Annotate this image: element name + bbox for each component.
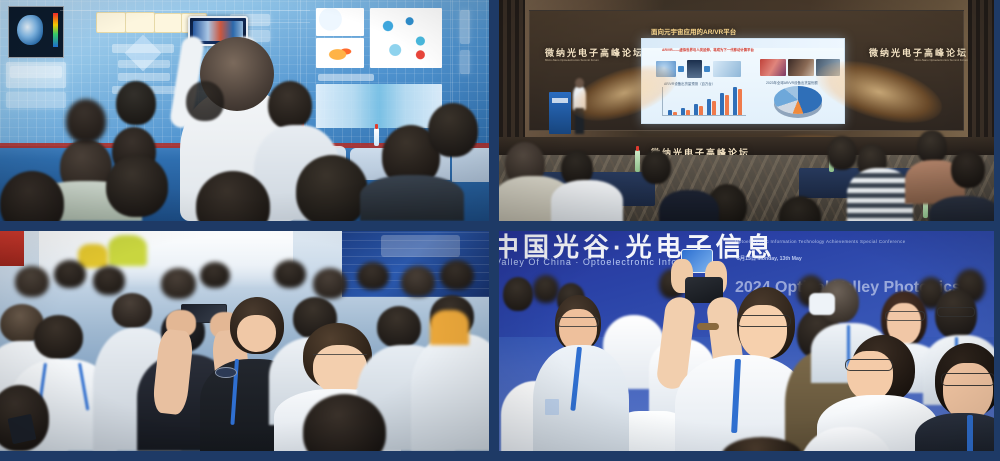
audience-head: [93, 266, 125, 295]
audience-body: [411, 334, 489, 451]
bar-vr: [673, 112, 677, 115]
flow-label-bar: [118, 73, 170, 81]
audience-head: [377, 306, 421, 348]
flow-label-bar: [112, 44, 174, 53]
simulation-tile: [316, 8, 364, 36]
lanyard: [967, 415, 973, 451]
screen-panel: [10, 66, 62, 78]
flow-box: [154, 13, 182, 33]
screen-panel: [460, 50, 470, 74]
slide-plus-icon: [704, 66, 710, 72]
audience-head: [917, 130, 947, 164]
slide-photo: [788, 59, 814, 76]
eyeglasses: [885, 311, 925, 321]
wristwatch: [215, 367, 237, 378]
slide-pie-note: 2023年全球AR/VR设备出货量份额: [766, 80, 818, 85]
audience-head: [440, 260, 474, 291]
person-photographer-face: [739, 305, 787, 359]
audience-head: [268, 81, 312, 129]
audience-head: [54, 260, 86, 289]
audience-head: [827, 136, 857, 170]
banner-subtitle-en: Optoelectronic Information Technology Ac…: [735, 239, 906, 244]
audience-head: [357, 262, 389, 291]
audience-head: [66, 99, 106, 143]
bar-ar: [707, 99, 711, 115]
screen-panel: [6, 92, 66, 108]
screen-panel: [460, 10, 470, 44]
slide-icon-compute: [687, 60, 702, 78]
speaker-head: [575, 78, 584, 88]
audience-head: [313, 268, 347, 299]
audience-head: [951, 150, 985, 188]
audience-body: [929, 196, 994, 221]
flow-label-bar: [118, 60, 170, 68]
person-photographer-face: [237, 315, 276, 352]
bar-vr: [738, 89, 742, 115]
chart-axis-x: [662, 115, 746, 116]
audience-head: [641, 150, 671, 184]
flow-connector: [60, 10, 310, 11]
eyeglasses: [313, 354, 367, 362]
simulation-tile: [316, 84, 442, 128]
podium-logo: [552, 98, 568, 103]
bar-ar: [720, 93, 724, 115]
audience-head: [401, 266, 435, 297]
audience-body: [551, 180, 623, 221]
audience-head: [161, 268, 195, 299]
photo-collage: 微纳光电子高峰论坛 Micro-Nano Optoelectronics Sum…: [0, 0, 1000, 461]
audience-head: [533, 275, 559, 303]
audience-head: [15, 266, 49, 297]
stage-curtain: [968, 0, 994, 137]
badge: [545, 399, 559, 415]
bar-vr: [699, 106, 703, 115]
water-bottle: [374, 128, 379, 146]
forum-title-left-en: Micro-Nano Optoelectronics Summit Forum: [545, 58, 599, 62]
audience-body: [847, 168, 913, 221]
eyeglasses: [937, 307, 975, 317]
water-bottle: [635, 150, 640, 172]
audience-head: [106, 155, 168, 217]
bar-vr: [725, 95, 729, 115]
panel-top-right: 微纳光电子高峰论坛 Micro-Nano Optoelectronics Sum…: [497, 0, 1000, 226]
eyeglasses: [845, 359, 893, 371]
red-banner: [0, 231, 24, 266]
banner-date: 5月13日 Monday, 13th May: [737, 255, 802, 262]
forum-title-right-en: Micro-Nano Optoelectronics Summit Forum: [914, 58, 968, 62]
audience-body: [533, 345, 629, 451]
audience-head: [428, 103, 478, 157]
audience-head: [200, 262, 229, 288]
booth-light: [381, 235, 459, 257]
orange-shirt-person: [430, 310, 469, 345]
flow-box: [125, 12, 155, 33]
audience-body: [659, 190, 719, 221]
thermal-simulation-inset: [8, 6, 64, 58]
simulation-tile: [370, 8, 442, 68]
bar-ar: [694, 104, 698, 115]
slide-headline: AR/VR——虚拟世界与人类延伸，将成为下一代移动计算平台: [662, 47, 754, 52]
eyeglasses: [941, 373, 994, 386]
slide-icon-display: [713, 61, 741, 77]
slide-plus-icon: [678, 66, 684, 72]
audience-head: [186, 81, 224, 121]
slide-title-cn: 面向元宇宙应用的AR/VR平台: [651, 26, 736, 36]
audience-head: [34, 315, 83, 359]
bar-vr: [686, 110, 690, 115]
green-shirt-person: [108, 235, 147, 266]
wristband: [697, 323, 719, 330]
stage-curtain: [499, 0, 525, 137]
pie-chart-market-share: [774, 86, 822, 114]
section-label-bar: [318, 74, 374, 81]
bar-vr: [712, 101, 716, 115]
audience-head: [112, 293, 151, 328]
panel-top-left: [0, 0, 497, 226]
bar-ar: [668, 110, 672, 115]
audience-head: [0, 171, 64, 221]
audience-body: [360, 175, 464, 221]
panel-bottom-left: [0, 226, 497, 461]
eyeglasses: [557, 317, 599, 327]
face-mask: [809, 293, 835, 315]
slide-photo: [760, 59, 786, 76]
flow-box: [96, 12, 126, 33]
bar-ar: [681, 108, 685, 115]
audience-head: [116, 81, 156, 125]
audience-head: [296, 155, 368, 221]
audience-head: [274, 260, 306, 289]
panel-bottom-right: 中国光谷·光电子信息 Valley Of China · Optoelectro…: [497, 226, 1000, 461]
eyeglasses: [737, 315, 791, 327]
bar-ar: [733, 87, 737, 115]
audience-head: [503, 277, 533, 311]
simulation-tile: [316, 38, 364, 68]
